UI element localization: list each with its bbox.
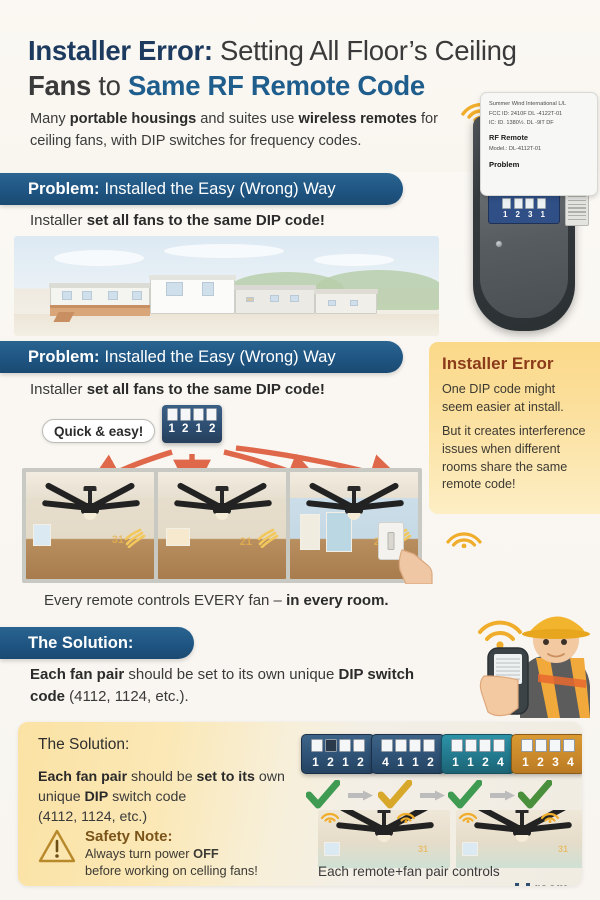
dip-numbers: 1 2 3 1 <box>492 210 556 219</box>
dip-toggle[interactable] <box>549 739 561 752</box>
banner-2-light: Installed the Easy (Wrong) Way <box>105 348 336 367</box>
infographic-page: Installer Error: Setting All Floor’s Cei… <box>0 0 600 900</box>
dip-chip-1212[interactable]: 1 2 1 2 <box>301 734 375 774</box>
dip-number: 1 <box>166 423 177 435</box>
quick-easy-bubble: Quick & easy! <box>42 419 155 443</box>
rf-remote-illustration: 1 2 3 1 Summer Wind International L/L FC… <box>455 88 600 338</box>
room-ghost-number: 21 <box>240 536 252 548</box>
dip-number: 2 <box>513 210 522 219</box>
remote-dip-switch[interactable]: 1 2 3 1 <box>488 194 560 224</box>
dip-toggles[interactable] <box>516 739 580 752</box>
dip-toggle[interactable] <box>193 408 204 421</box>
sp-f: switch code <box>108 789 186 805</box>
s2-cap-b: in every room. <box>286 592 389 609</box>
dip-toggles[interactable] <box>376 739 440 752</box>
label-ic-id: IC: ID. 1380½. DL -9lT DF <box>489 119 589 129</box>
dip-number: 2 <box>535 755 547 769</box>
s3-d: (4112, 1124, etc.). <box>65 688 189 705</box>
wifi-icon <box>458 808 478 823</box>
s2-cap-a: Every remote controls EVERY fan – <box>44 592 286 609</box>
label-model: Model.: DL-4112T-01 <box>489 145 589 155</box>
door <box>326 512 352 552</box>
dip-number: 1 <box>465 755 477 769</box>
dip-number: 1 <box>340 755 352 769</box>
dip-toggles[interactable] <box>165 408 219 421</box>
banner-1-bold: Problem: <box>28 180 100 199</box>
arrow-right-icon <box>420 790 446 801</box>
installer-worker-illustration <box>462 596 600 718</box>
banner-1-light: Installed the Easy (Wrong) Way <box>105 180 336 199</box>
dip-toggle[interactable] <box>502 198 511 209</box>
wifi-icon <box>444 518 484 548</box>
s3-a: Each fan pair <box>30 666 124 683</box>
room-2: 21 <box>158 472 286 579</box>
dip-number: 1 <box>501 210 510 219</box>
dip-toggles[interactable] <box>306 739 370 752</box>
dip-toggle[interactable] <box>451 739 463 752</box>
dip-number: 1 <box>410 755 422 769</box>
sp-a: Each fan pair <box>38 769 127 785</box>
breeze-icon <box>124 528 146 548</box>
safety-line-1: Always turn power OFF <box>85 845 258 862</box>
label-problem: Problem <box>489 158 589 171</box>
subtitle-a: Many <box>30 111 70 127</box>
safety-a: Always turn power <box>85 846 193 861</box>
banner-solution: The Solution: <box>0 627 194 659</box>
banner-2-bold: Problem: <box>28 348 100 367</box>
section2-caption: Every remote controls EVERY fan – in eve… <box>44 592 389 609</box>
window <box>462 842 478 856</box>
solution-text-block: The Solution: Each fan pair should be se… <box>38 736 316 827</box>
safety-heading: Safety Note: <box>85 828 258 845</box>
title-rest: Setting All Floor’s Ceiling <box>213 35 517 66</box>
dip-toggles[interactable] <box>446 739 510 752</box>
dip-number: 2 <box>180 423 191 435</box>
remote-screw <box>495 240 503 248</box>
dip-number: 4 <box>495 755 507 769</box>
dip-numbers: 1 1 2 4 <box>446 755 510 769</box>
dip-numbers: 1 2 3 4 <box>516 755 580 769</box>
room-1: 31 <box>26 472 154 579</box>
dip-number: 2 <box>480 755 492 769</box>
section1-line: Installer set all fans to the same DIP c… <box>30 212 325 229</box>
sp-b: should be <box>127 769 196 785</box>
trailer-unit <box>150 278 235 314</box>
subtitle-c: and suites use <box>196 111 298 127</box>
dip-number: 2 <box>325 755 337 769</box>
dip-number: 1 <box>450 755 462 769</box>
label-company: Summer Wind International L/L <box>489 100 589 110</box>
dip-toggle[interactable] <box>479 739 491 752</box>
subtitle-bold-2: wireless remotes <box>298 111 416 127</box>
title-line2-c: Same RF Remote Code <box>128 70 425 101</box>
dip-number: 3 <box>526 210 535 219</box>
trailer-unit <box>315 292 377 314</box>
dip-toggle[interactable] <box>514 198 523 209</box>
dip-chip-4112[interactable]: 4 1 1 2 <box>371 734 445 774</box>
safety-note-text: Safety Note: Always turn power OFF befor… <box>85 828 258 880</box>
wifi-icon <box>540 808 560 823</box>
check-mark-icon <box>378 780 412 810</box>
dip-number: 1 <box>193 423 204 435</box>
title-line2-a: Fans <box>28 70 91 101</box>
section3-line: Each fan pair should be set to its own u… <box>30 664 430 708</box>
solution-summary-panel: The Solution: Each fan pair should be se… <box>18 722 582 886</box>
solution-caption: Each remote+fan pair controls room only. <box>318 864 582 879</box>
dip-toggle[interactable] <box>537 198 546 209</box>
dip-number: 2 <box>355 755 367 769</box>
check-mark-icon <box>306 780 340 810</box>
sol-caption-a: Each remote+fan pair controls <box>318 864 500 879</box>
sp-e: DIP <box>85 789 109 805</box>
dip-toggle[interactable] <box>311 739 323 752</box>
banner-solution-text: The Solution: <box>28 634 133 653</box>
section2-line: Installer set all fans to the same DIP c… <box>30 381 325 398</box>
dip-number: 1 <box>310 755 322 769</box>
subtitle: Many portable housings and suites use wi… <box>30 108 460 152</box>
s2-text-a: Installer <box>30 381 87 398</box>
title-emphasis: Installer Error: <box>28 35 213 66</box>
dip-number: 2 <box>207 423 218 435</box>
banner-problem-1: Problem: Installed the Easy (Wrong) Way <box>0 173 403 205</box>
dip-number: 1 <box>395 755 407 769</box>
label-product-name: RF Remote <box>489 132 589 145</box>
dip-toggle[interactable] <box>325 739 337 752</box>
error-card-heading: Installer Error <box>442 354 587 374</box>
window <box>33 524 51 546</box>
s1-text-a: Installer <box>30 212 87 229</box>
safety-line-2: before working on celling fans! <box>85 862 258 879</box>
check-mark-icon <box>518 780 552 810</box>
remote-spec-label: Summer Wind International L/L FCC ID: 24… <box>480 92 598 196</box>
solution-panel-heading: The Solution: <box>38 736 316 754</box>
room-ghost-number: 31 <box>112 534 124 546</box>
arrow-right-icon <box>490 790 516 801</box>
warning-triangle-icon <box>38 828 76 864</box>
dip-toggle[interactable] <box>423 739 435 752</box>
dip-toggle[interactable] <box>180 408 191 421</box>
dip-toggle[interactable] <box>563 739 575 752</box>
dip-toggle[interactable] <box>521 739 533 752</box>
remote-vent-grille <box>565 192 589 226</box>
solution-panel-body: Each fan pair should be set to its own u… <box>38 767 316 827</box>
title-line2-b: to <box>91 70 128 101</box>
dip-toggles[interactable] <box>492 198 556 209</box>
hand-pointing-icon <box>396 540 442 584</box>
dip-numbers: 1 2 1 2 <box>165 423 219 435</box>
dip-number: 2 <box>425 755 437 769</box>
fan-ghost-number: 31 <box>558 844 568 854</box>
dip-switch-same-code[interactable]: 1 2 1 2 <box>162 405 222 443</box>
ground <box>14 314 439 336</box>
dip-number: 4 <box>380 755 392 769</box>
subtitle-bold-1: portable housings <box>70 111 196 127</box>
room-icon <box>514 882 531 886</box>
dip-number: 3 <box>550 755 562 769</box>
safety-b: OFF <box>193 846 219 861</box>
dip-number: 1 <box>520 755 532 769</box>
s2-text-b: set all fans to the same DIP code! <box>87 381 325 398</box>
sp-g: (4112, 1124, etc.) <box>38 809 147 825</box>
s1-text-b: set all fans to the same DIP code! <box>87 212 325 229</box>
error-card-para-1: One DIP code might seem easier at instal… <box>442 381 587 417</box>
dip-toggle[interactable] <box>353 739 365 752</box>
sp-c: set to its <box>197 769 255 785</box>
dip-chip-1234[interactable]: 1 2 3 4 <box>511 734 582 774</box>
dip-numbers: 4 1 1 2 <box>376 755 440 769</box>
dip-toggle[interactable] <box>525 198 534 209</box>
dip-toggle[interactable] <box>206 408 217 421</box>
s3-b: should be set to its own unique <box>124 666 338 683</box>
sol-caption-b: room only. <box>535 881 582 886</box>
dip-toggle[interactable] <box>535 739 547 752</box>
three-rooms-illustration: 31 21 <box>22 468 422 583</box>
dip-toggle[interactable] <box>339 739 351 752</box>
dip-toggle[interactable] <box>381 739 393 752</box>
dip-toggle[interactable] <box>409 739 421 752</box>
dip-number: 1 <box>538 210 547 219</box>
dip-toggle[interactable] <box>395 739 407 752</box>
dip-toggle[interactable] <box>465 739 477 752</box>
dip-toggle[interactable] <box>167 408 178 421</box>
safety-note: Safety Note: Always turn power OFF befor… <box>38 828 328 880</box>
mobile-home-building-illustration <box>14 236 439 336</box>
dip-number: 4 <box>565 755 577 769</box>
wifi-icon <box>320 808 340 823</box>
dip-toggle[interactable] <box>493 739 505 752</box>
solution-caption-right: room only. <box>514 881 582 886</box>
wifi-icon <box>396 808 416 823</box>
arrow-right-icon <box>348 790 374 801</box>
window <box>166 528 190 546</box>
dip-numbers: 1 2 1 2 <box>306 755 370 769</box>
breeze-icon <box>256 528 280 548</box>
label-fcc-id: FCC ID: 2410F DL -4122T-01 <box>489 110 589 120</box>
check-mark-icon <box>448 780 482 810</box>
banner-problem-2: Problem: Installed the Easy (Wrong) Way <box>0 341 403 373</box>
dip-chip-1124[interactable]: 1 1 2 4 <box>441 734 515 774</box>
fan-ghost-number: 31 <box>418 844 428 854</box>
door <box>300 514 320 550</box>
switch-toggle[interactable] <box>388 532 395 550</box>
